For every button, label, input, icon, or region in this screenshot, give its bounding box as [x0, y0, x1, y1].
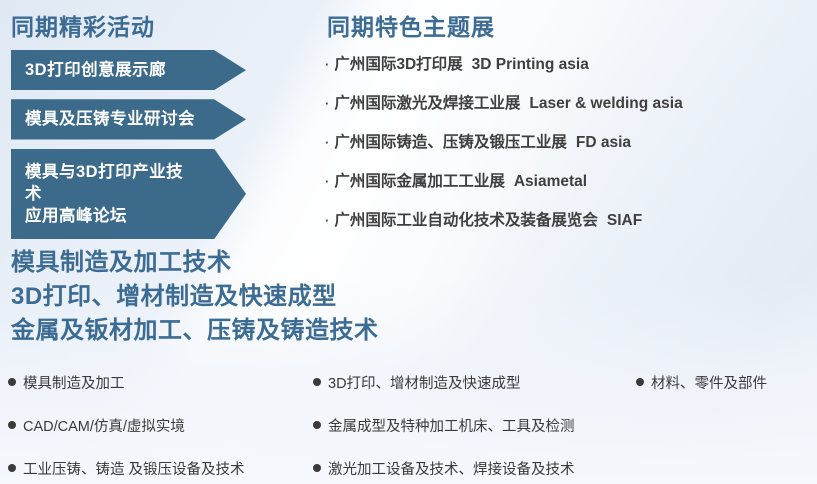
bullet-circle-icon [636, 378, 644, 386]
activity-banner-3-line-1: 模具与3D打印产业技术 [25, 161, 200, 206]
activity-banner-1[interactable]: 3D打印创意展示廊 [11, 50, 246, 90]
theme-exhibition-item: · 广州国际激光及焊接工业展 Laser & welding asia [325, 91, 805, 113]
category-label: 工业压铸、铸造 及锻压设备及技术 [23, 458, 245, 479]
theme-exhibition-name-en: FD asia [576, 134, 631, 152]
category-label: 3D打印、增材制造及快速成型 [328, 372, 521, 393]
category-label: 激光加工设备及技术、焊接设备及技术 [328, 458, 575, 479]
section-title-theme-exhibitions: 同期特色主题展 [327, 8, 495, 42]
theme-exhibition-name-cn: 广州国际3D打印展 [334, 52, 462, 74]
bullet-dot-icon: · [325, 214, 329, 227]
theme-exhibition-item: · 广州国际金属加工工业展 Asiametal [325, 169, 805, 191]
bullet-circle-icon [8, 464, 16, 472]
theme-exhibition-name-cn: 广州国际工业自动化技术及装备展览会 [334, 208, 598, 230]
category-item: 材料、零件及部件 [636, 372, 816, 393]
theme-exhibition-item: · 广州国际3D打印展 3D Printing asia [325, 52, 805, 74]
category-label: 模具制造及加工 [23, 372, 125, 393]
bullet-circle-icon [313, 378, 321, 386]
category-label: CAD/CAM/仿真/虚拟实境 [23, 415, 185, 436]
activity-banner-3[interactable]: 模具与3D打印产业技术 应用高峰论坛 [11, 149, 246, 240]
section-title-activities: 同期精彩活动 [11, 8, 155, 42]
activity-banner-list: 3D打印创意展示廊 模具及压铸专业研讨会 模具与3D打印产业技术 应用高峰论坛 [11, 50, 261, 248]
category-column-3: 材料、零件及部件 [636, 372, 816, 415]
activity-banner-1-line-1: 3D打印创意展示廊 [25, 59, 200, 81]
promo-poster: 同期精彩活动 同期特色主题展 3D打印创意展示廊 模具及压铸专业研讨会 模具与3… [0, 0, 817, 484]
theme-exhibition-item: · 广州国际铸造、压铸及锻压工业展 FD asia [325, 130, 805, 152]
category-item: 模具制造及加工 [8, 372, 308, 393]
activity-banner-2[interactable]: 模具及压铸专业研讨会 [11, 99, 246, 139]
category-item: 金属成型及特种加工机床、工具及检测 [313, 415, 633, 436]
bullet-circle-icon [8, 378, 16, 386]
bullet-dot-icon: · [325, 175, 329, 188]
category-item: CAD/CAM/仿真/虚拟实境 [8, 415, 308, 436]
category-column-1: 模具制造及加工 CAD/CAM/仿真/虚拟实境 工业压铸、铸造 及锻压设备及技术 [8, 372, 308, 484]
headline-line-3: 金属及钣材加工、压铸及铸造技术 [11, 314, 379, 348]
theme-exhibition-name-en: SIAF [607, 212, 642, 230]
theme-exhibition-name-cn: 广州国际铸造、压铸及锻压工业展 [334, 130, 567, 152]
category-item: 3D打印、增材制造及快速成型 [313, 372, 633, 393]
theme-exhibition-name-cn: 广州国际激光及焊接工业展 [334, 91, 520, 113]
theme-exhibition-item: · 广州国际工业自动化技术及装备展览会 SIAF [325, 208, 805, 230]
headline-line-1: 模具制造及加工技术 [11, 246, 379, 280]
category-label: 材料、零件及部件 [651, 372, 767, 393]
activity-banner-2-line-1: 模具及压铸专业研讨会 [25, 108, 200, 130]
category-column-2: 3D打印、增材制造及快速成型 金属成型及特种加工机床、工具及检测 激光加工设备及… [313, 372, 633, 484]
bullet-circle-icon [313, 464, 321, 472]
theme-exhibition-name-en: 3D Printing asia [472, 56, 589, 74]
category-columns: 模具制造及加工 CAD/CAM/仿真/虚拟实境 工业压铸、铸造 及锻压设备及技术… [8, 372, 813, 480]
theme-exhibition-name-cn: 广州国际金属加工工业展 [334, 169, 505, 191]
headline-line-2: 3D打印、增材制造及快速成型 [11, 280, 379, 314]
main-headline-block: 模具制造及加工技术 3D打印、增材制造及快速成型 金属及钣材加工、压铸及铸造技术 [11, 246, 379, 348]
bullet-circle-icon [313, 421, 321, 429]
bullet-circle-icon [8, 421, 16, 429]
theme-exhibition-name-en: Laser & welding asia [529, 95, 682, 113]
bullet-dot-icon: · [325, 136, 329, 149]
theme-exhibition-list: · 广州国际3D打印展 3D Printing asia · 广州国际激光及焊接… [325, 52, 805, 247]
activity-banner-3-line-2: 应用高峰论坛 [25, 205, 200, 227]
bullet-dot-icon: · [325, 58, 329, 71]
bullet-dot-icon: · [325, 97, 329, 110]
category-label: 金属成型及特种加工机床、工具及检测 [328, 415, 575, 436]
category-item: 激光加工设备及技术、焊接设备及技术 [313, 458, 633, 479]
category-item: 工业压铸、铸造 及锻压设备及技术 [8, 458, 308, 479]
theme-exhibition-name-en: Asiametal [514, 173, 587, 191]
